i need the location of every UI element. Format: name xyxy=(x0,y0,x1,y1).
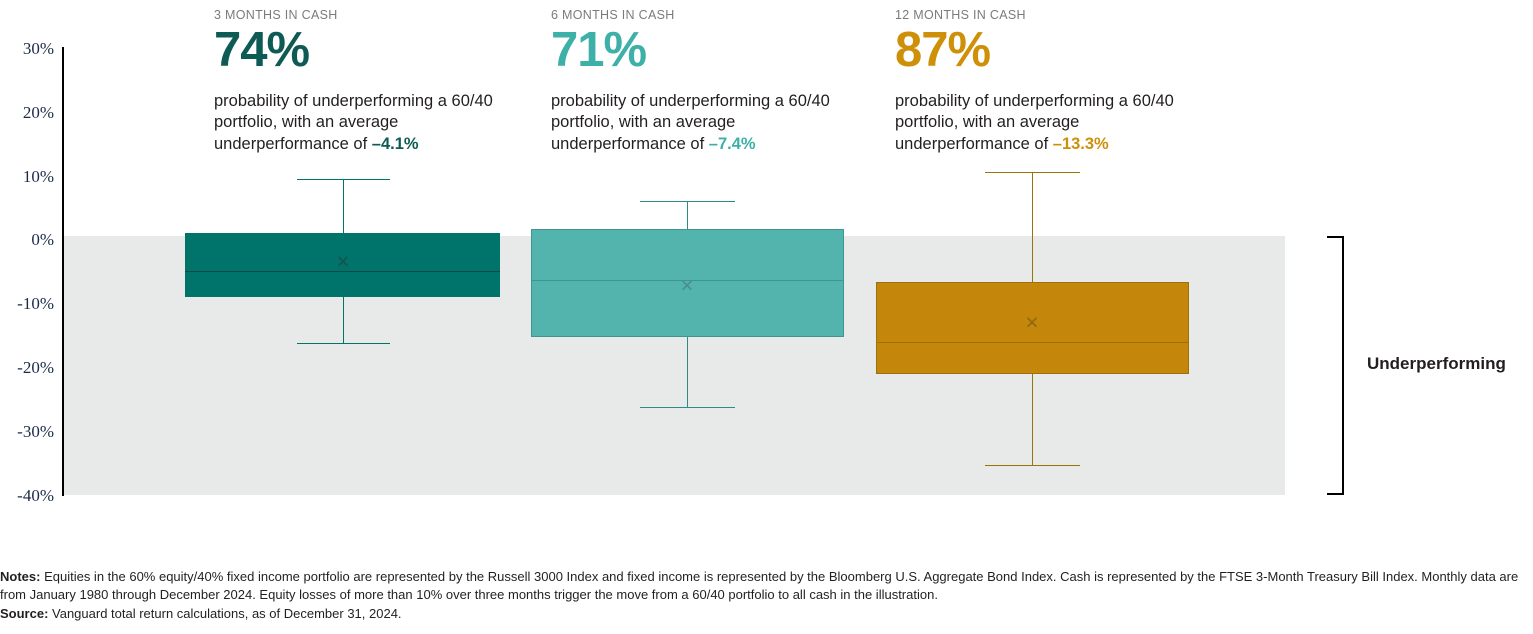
mean-marker-x: ✕ xyxy=(1025,315,1039,332)
whisker-cap-lower xyxy=(297,343,390,344)
callout-kicker: 12 MONTHS IN CASH xyxy=(895,8,1175,22)
whisker-line-lower xyxy=(687,336,688,407)
callout-blurb-highlight: –4.1% xyxy=(372,135,419,153)
mean-marker-x: ✕ xyxy=(336,254,350,271)
whisker-cap-lower xyxy=(985,465,1080,466)
callout-kicker: 3 MONTHS IN CASH xyxy=(214,8,494,22)
whisker-cap-lower xyxy=(640,407,735,408)
notes-label: Notes: xyxy=(0,569,40,584)
callout-blurb-text: probability of underperforming a 60/40 p… xyxy=(551,92,830,154)
callout-value: 71% xyxy=(551,26,831,74)
bracket-vertical xyxy=(1342,236,1344,495)
callout-blurb-text: probability of underperforming a 60/40 p… xyxy=(214,92,493,154)
ytick-label: -30% xyxy=(0,422,54,442)
callout-blurb-text: probability of underperforming a 60/40 p… xyxy=(895,92,1174,154)
boxplot-chart: 30% 20% 10% 0% -10% -20% -30% -40% ✕ ✕ ✕… xyxy=(0,0,1533,540)
ytick-label: -40% xyxy=(0,486,54,506)
mean-marker-x: ✕ xyxy=(680,278,694,295)
ytick-label: 20% xyxy=(0,103,54,123)
footnotes: Notes: Equities in the 60% equity/40% fi… xyxy=(0,568,1533,625)
y-axis-line xyxy=(62,47,64,496)
callout-6-months: 6 MONTHS IN CASH 71% probability of unde… xyxy=(551,8,831,172)
ytick-label: -20% xyxy=(0,358,54,378)
callout-kicker: 6 MONTHS IN CASH xyxy=(551,8,831,22)
callout-value: 74% xyxy=(214,26,494,74)
underperforming-label: Underperforming xyxy=(1367,354,1506,374)
callout-blurb: probability of underperforming a 60/40 p… xyxy=(895,91,1175,156)
source-text: Vanguard total return calculations, as o… xyxy=(48,606,401,621)
median-line xyxy=(876,342,1189,343)
ytick-label: -10% xyxy=(0,294,54,314)
ytick-label: 30% xyxy=(0,39,54,59)
whisker-line-upper xyxy=(1032,172,1033,283)
callout-12-months: 12 MONTHS IN CASH 87% probability of und… xyxy=(895,8,1175,172)
ytick-label: 0% xyxy=(0,230,54,250)
callout-3-months: 3 MONTHS IN CASH 74% probability of unde… xyxy=(214,8,494,172)
callout-blurb-highlight: –13.3% xyxy=(1053,135,1109,153)
callout-value: 87% xyxy=(895,26,1175,74)
callout-blurb: probability of underperforming a 60/40 p… xyxy=(551,91,831,156)
bracket-bottom-arm xyxy=(1327,493,1344,495)
source-paragraph: Source: Vanguard total return calculatio… xyxy=(0,605,1533,623)
whisker-line-lower xyxy=(343,297,344,344)
notes-text: Equities in the 60% equity/40% fixed inc… xyxy=(0,569,1518,602)
whisker-line-upper xyxy=(687,201,688,230)
whisker-line-upper xyxy=(343,179,344,234)
callout-blurb: probability of underperforming a 60/40 p… xyxy=(214,91,494,156)
ytick-label: 10% xyxy=(0,167,54,187)
callout-blurb-highlight: –7.4% xyxy=(709,135,756,153)
underperforming-bracket xyxy=(1327,236,1344,495)
whisker-line-lower xyxy=(1032,373,1033,465)
source-label: Source: xyxy=(0,606,48,621)
notes-paragraph: Notes: Equities in the 60% equity/40% fi… xyxy=(0,568,1533,603)
